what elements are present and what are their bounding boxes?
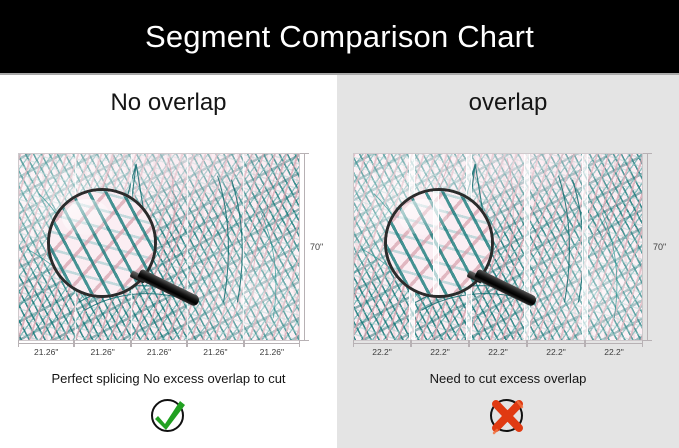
segment-width-label: 22.2" (527, 347, 585, 357)
overlap-seam-1 (409, 154, 415, 340)
ruler-labels: 22.2" 22.2" 22.2" 22.2" 22.2" (353, 347, 643, 357)
panel-heading-no-overlap: No overlap (0, 91, 337, 115)
comparison-chart-page: Segment Comparison Chart No overlap (0, 0, 679, 448)
palm-frond-accent (19, 154, 299, 340)
palm-leaf-layer-back (353, 153, 643, 341)
palm-frond-accent (354, 154, 642, 340)
wallpaper-preview-no-overlap (18, 153, 300, 341)
magnified-overlap-seam (433, 191, 439, 295)
palm-leaf-layer-highlight (18, 153, 300, 341)
palm-leaf-layer-back (18, 153, 300, 341)
palm-leaf-layer-pink (18, 153, 300, 341)
segment-width-label: 22.2" (353, 347, 411, 357)
width-ruler-no-overlap: 21.26" 21.26" 21.26" 21.26" 21.26" (18, 343, 300, 363)
verdict-no-overlap (0, 397, 337, 437)
magnifying-glass-icon (47, 188, 157, 298)
verdict-overlap (337, 397, 679, 437)
magnifying-glass-icon (384, 188, 494, 298)
width-ruler-overlap: 22.2" 22.2" 22.2" 22.2" 22.2" (353, 343, 643, 363)
segment-width-label: 22.2" (411, 347, 469, 357)
palm-leaf-layer-highlight (353, 153, 643, 341)
caption-no-overlap: Perfect splicing No excess overlap to cu… (0, 371, 337, 386)
segment-width-label: 21.26" (18, 347, 74, 357)
palm-leaf-layer-teal (353, 153, 643, 341)
palm-leaf-layer-pink (353, 153, 643, 341)
ruler-labels: 21.26" 21.26" 21.26" 21.26" 21.26" (18, 347, 300, 357)
seam-line-4 (243, 154, 244, 340)
red-cross-icon (488, 397, 528, 437)
panel-heading-overlap: overlap (337, 91, 679, 115)
check-mark (149, 397, 189, 437)
seam-line-2 (131, 154, 132, 340)
caption-overlap: Need to cut excess overlap (337, 371, 679, 386)
figure-no-overlap (18, 153, 300, 341)
comparison-panels: No overlap (0, 75, 679, 448)
seam-line-3 (187, 154, 188, 340)
magnifier-lens (384, 188, 494, 298)
segment-width-label: 22.2" (469, 347, 527, 357)
cross-mark (488, 397, 528, 437)
panel-overlap: overlap (337, 75, 679, 448)
title-banner: Segment Comparison Chart (0, 0, 679, 73)
overlap-seam-3 (524, 154, 530, 340)
height-label-no-overlap: 70" (310, 242, 323, 252)
magnifier-zoomed-pattern (47, 188, 157, 298)
segment-width-label: 21.26" (187, 347, 243, 357)
segment-width-label: 22.2" (585, 347, 643, 357)
figure-overlap (353, 153, 643, 341)
height-label-overlap: 70" (653, 242, 666, 252)
panel-no-overlap: No overlap (0, 75, 337, 448)
green-check-icon (149, 397, 189, 437)
magnifier-neck (129, 270, 146, 283)
height-cap-bottom (643, 340, 652, 341)
segment-width-label: 21.26" (74, 347, 130, 357)
magnifier-lens (47, 188, 157, 298)
segment-width-label: 21.26" (244, 347, 300, 357)
page-title: Segment Comparison Chart (145, 21, 534, 52)
height-line (304, 153, 305, 341)
height-cap-bottom (300, 340, 309, 341)
magnifier-zoomed-pattern (384, 188, 494, 298)
magnifier-handle (137, 269, 201, 308)
wallpaper-preview-overlap (353, 153, 643, 341)
segment-width-label: 21.26" (131, 347, 187, 357)
magnifier-glare (62, 199, 110, 234)
overlap-seam-2 (466, 154, 472, 340)
magnifier-glare (399, 199, 447, 234)
seam-line-1 (75, 154, 76, 340)
height-line (647, 153, 648, 341)
palm-leaf-layer-teal (18, 153, 300, 341)
overlap-seam-4 (582, 154, 588, 340)
